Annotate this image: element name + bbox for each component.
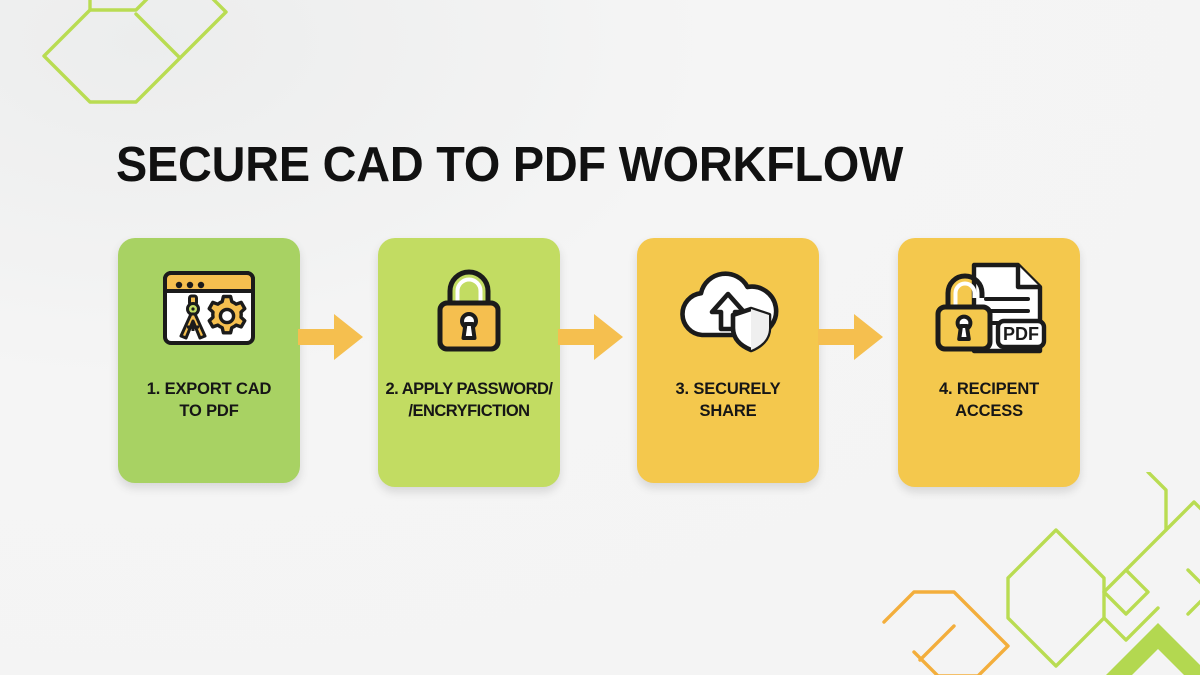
workflow-step-card-2[interactable]: 2. APPLY PASSWORD/ /ENCRYFICTION bbox=[378, 238, 560, 487]
workflow-step-label: 3. SECURELY SHARE bbox=[669, 378, 786, 422]
unlocked-pdf-document-icon: PDF bbox=[898, 238, 1080, 378]
workflow-step-label: 4. RECIPENT ACCESS bbox=[933, 378, 1045, 422]
workflow-diagram: 1. EXPORT CAD TO PDF 2. APPLY PASSWORD/ … bbox=[118, 238, 1082, 490]
slide-canvas: SECURE CAD TO PDF WORKFLOW bbox=[0, 0, 1200, 675]
page-title: SECURE CAD TO PDF WORKFLOW bbox=[116, 136, 903, 194]
workflow-step-label: 2. APPLY PASSWORD/ /ENCRYFICTION bbox=[379, 378, 558, 422]
workflow-step-card-1[interactable]: 1. EXPORT CAD TO PDF bbox=[118, 238, 300, 483]
cad-window-icon bbox=[118, 238, 300, 378]
padlock-closed-icon bbox=[378, 238, 560, 378]
workflow-step-card-3[interactable]: 3. SECURELY SHARE bbox=[637, 238, 819, 483]
cloud-upload-shield-icon bbox=[637, 238, 819, 378]
arrow-right-icon bbox=[298, 312, 364, 362]
pdf-badge-label: PDF bbox=[1003, 324, 1039, 344]
workflow-step-card-4[interactable]: PDF 4. RECIPENT ACCESS bbox=[898, 238, 1080, 487]
workflow-step-label: 1. EXPORT CAD TO PDF bbox=[141, 378, 278, 422]
arrow-right-icon bbox=[558, 312, 624, 362]
decoration-bottom-right bbox=[858, 472, 1200, 675]
arrow-right-icon bbox=[818, 312, 884, 362]
